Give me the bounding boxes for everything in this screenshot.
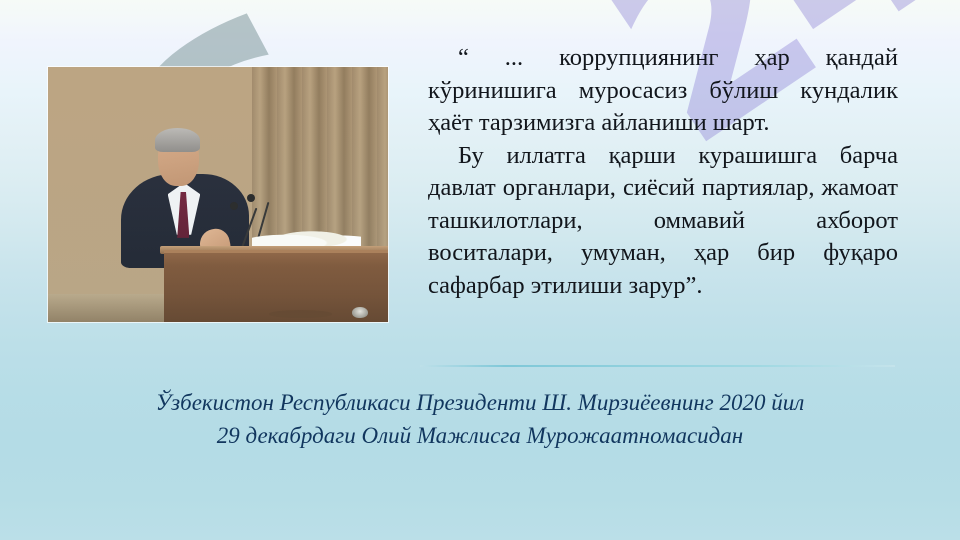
presentation-slide: S 24	[0, 0, 960, 540]
attribution-block: Ўзбекистон Республикаси Президенти Ш. Ми…	[40, 386, 920, 452]
photo-content	[48, 67, 388, 322]
speaker-photo	[48, 67, 388, 322]
horizontal-divider	[420, 365, 895, 367]
attribution-line-2: 29 декабрдаги Олий Мажлисга Мурожаатнома…	[40, 419, 920, 452]
photo-overlay	[48, 67, 388, 322]
quote-paragraph-1: “ ... коррупциянинг ҳар қандай кўринишиг…	[428, 42, 898, 140]
quote-paragraph-2: Бу иллатга қарши курашишга барча давлат …	[428, 140, 898, 303]
quote-block: “ ... коррупциянинг ҳар қандай кўринишиг…	[428, 42, 898, 302]
attribution-line-1: Ўзбекистон Республикаси Президенти Ш. Ми…	[40, 386, 920, 419]
